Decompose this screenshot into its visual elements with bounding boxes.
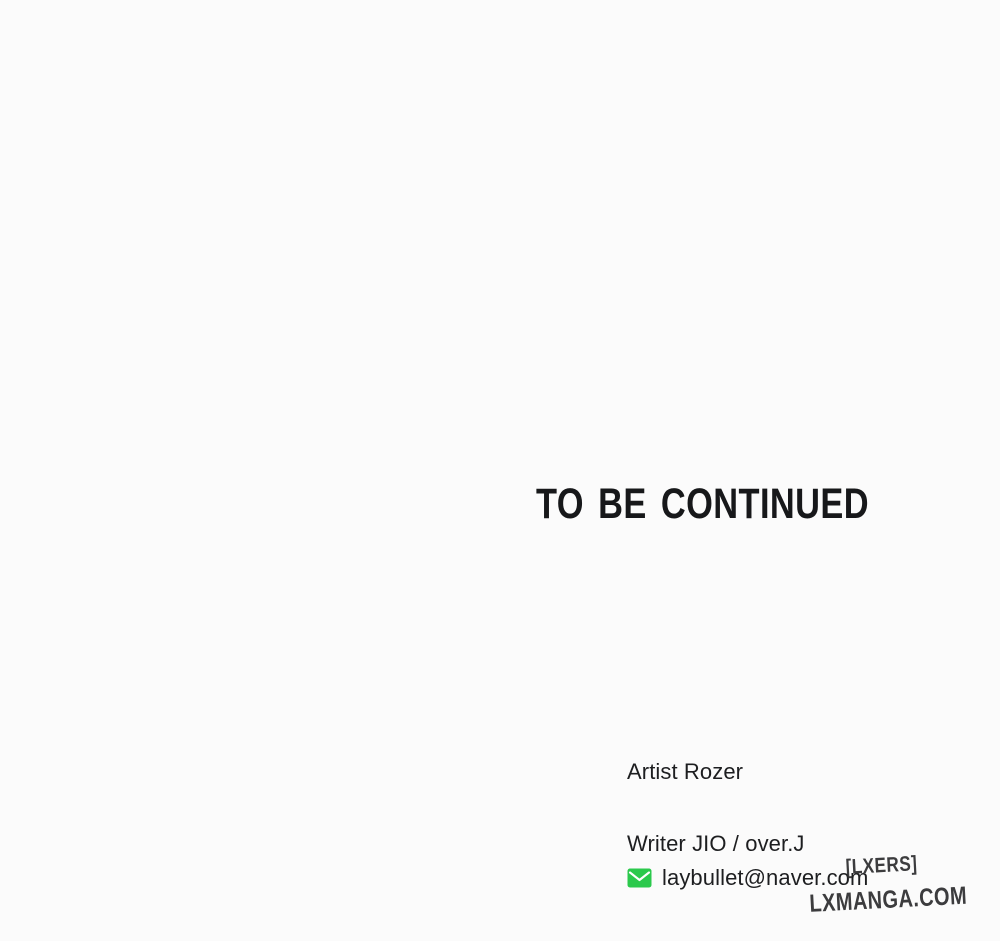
envelope-icon: [627, 868, 652, 888]
to-be-continued-title: To be continued: [536, 462, 888, 542]
comic-end-page: To be continued Artist Rozer Writer JIO …: [0, 0, 1000, 941]
credit-writer-line: Writer JIO / over.J: [627, 829, 957, 859]
credit-email-row: laybullet@naver.com: [627, 865, 957, 891]
credits-block: Artist Rozer Writer JIO / over.J laybull…: [627, 757, 957, 891]
credit-artist-line: Artist Rozer: [627, 757, 957, 787]
credit-email-address: laybullet@naver.com: [662, 865, 868, 891]
